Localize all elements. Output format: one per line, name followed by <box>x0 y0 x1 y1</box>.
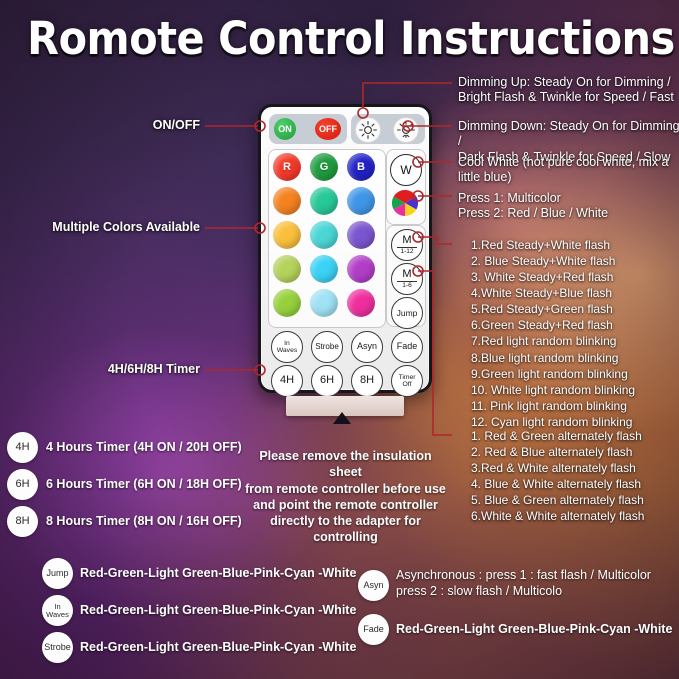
mode-list-item: 5. Blue & Green alternately flash <box>471 492 679 508</box>
effect-legend-text: Red-Green-Light Green-Blue-Pink-Cyan -Wh… <box>80 603 370 619</box>
color-button-7[interactable] <box>273 221 301 249</box>
mode-list-item: 1.Red Steady+White flash <box>471 237 679 253</box>
button-label: In <box>284 340 290 347</box>
effect-button-fade[interactable]: Fade <box>391 331 423 363</box>
effect-chip-jump[interactable]: Jump <box>42 558 73 589</box>
button-label: 4H <box>280 375 294 387</box>
mode-list-item: 6.Green Steady+Red flash <box>471 317 679 333</box>
timer-chip-4h[interactable]: 4H <box>7 432 38 463</box>
mode-button-top-label: M <box>402 269 411 280</box>
note-line: from remote controller before use <box>243 481 448 497</box>
remote-control-body: ON OFF <box>258 104 432 393</box>
power-on-button[interactable]: ON <box>274 118 296 140</box>
callout-dimming-up: Dimming Up: Steady On for Dimming / Brig… <box>458 75 678 106</box>
callout-line: Press 1: Multicolor <box>458 191 676 206</box>
chip-label: 4H <box>15 442 29 453</box>
infographic-root: Romote Control Instructions ON OFF <box>0 0 679 679</box>
power-row: ON OFF <box>269 114 425 144</box>
button-label: Strobe <box>315 343 339 351</box>
timer-button-4h[interactable]: 4H <box>271 365 303 397</box>
callout-cool-white: Cool White (not pure cool white, mix a l… <box>458 155 676 186</box>
effect-legend-line: Red-Green-Light Green-Blue-Pink-Cyan -Wh… <box>396 622 678 638</box>
timer-legend-text: 6 Hours Timer (6H ON / 18H OFF) <box>46 477 256 493</box>
dimming-down-button[interactable] <box>393 117 419 143</box>
effect-legend-text: Red-Green-Light Green-Blue-Pink-Cyan -Wh… <box>396 622 678 638</box>
color-button-6[interactable] <box>347 187 375 215</box>
mode-list-item: 3.Red & White alternately flash <box>471 460 679 476</box>
callout-line: Cool White (not pure cool white, mix a <box>458 155 676 170</box>
button-label: 8H <box>360 375 374 387</box>
effect-legend-line: press 2 : slow flash / Multicolo <box>396 584 678 600</box>
power-off-button[interactable]: OFF <box>315 118 341 140</box>
effect-chip-in-waves[interactable]: InWaves <box>42 595 73 626</box>
effect-button-asyn[interactable]: Asyn <box>351 331 383 363</box>
callout-line: Dimming Up: Steady On for Dimming / <box>458 75 678 90</box>
timer-legend-text: 8 Hours Timer (8H ON / 16H OFF) <box>46 514 256 530</box>
mode-1-12-button[interactable]: M 1-12 <box>391 229 423 261</box>
color-button-11[interactable] <box>310 255 338 283</box>
mode-list-item: 1. Red & Green alternately flash <box>471 428 679 444</box>
effect-legend-text: Asynchronous : press 1 : fast flash / Mu… <box>396 568 678 599</box>
note-line: and point the remote controller <box>243 497 448 513</box>
button-label: Fade <box>397 342 418 351</box>
mode-list-item: 11. Pink light random blinking <box>471 398 679 414</box>
mode-1-6-button[interactable]: M 1-6 <box>391 263 423 295</box>
effect-button-strobe[interactable]: Strobe <box>311 331 343 363</box>
button-label: 6H <box>320 375 334 387</box>
color-button-grid: RGB <box>273 153 379 323</box>
callout-line: Dimming Down: Steady On for Dimming / <box>458 119 679 150</box>
note-line: Please remove the insulation sheet <box>243 448 448 481</box>
button-label: Asyn <box>357 342 377 351</box>
insulation-arrow-icon <box>333 412 351 424</box>
callout-colors-label: Multiple Colors Available <box>40 220 200 235</box>
mode-list-item: 2. Red & Blue alternately flash <box>471 444 679 460</box>
button-label: Timer <box>398 374 415 381</box>
color-button-label: G <box>320 161 329 173</box>
callout-line: Bright Flash & Twinkle for Speed / Fast <box>458 90 678 105</box>
callout-line: Press 2: Red / Blue / White <box>458 206 676 221</box>
callout-line: little blue) <box>458 170 676 185</box>
mode-list-item: 7.Red light random blinking <box>471 333 679 349</box>
effect-legend-text: Red-Green-Light Green-Blue-Pink-Cyan -Wh… <box>80 640 370 656</box>
color-button-10[interactable] <box>273 255 301 283</box>
chip-label: Waves <box>46 611 69 619</box>
effect-legend-line: Asynchronous : press 1 : fast flash / Mu… <box>396 568 678 584</box>
mode-list-item: 4.White Steady+Blue flash <box>471 285 679 301</box>
multicolor-wheel-button[interactable] <box>391 189 419 217</box>
callout-timer-label: 4H/6H/8H Timer <box>60 362 200 377</box>
color-button-8[interactable] <box>310 221 338 249</box>
chip-label: Fade <box>363 625 384 634</box>
mode-list-item: 6.White & White alternately flash <box>471 508 679 524</box>
mode-button-range-label: 1-12 <box>400 249 413 256</box>
color-button-label: R <box>283 161 291 173</box>
effect-chip-fade[interactable]: Fade <box>358 614 389 645</box>
mode-list-item: 8.Blue light random blinking <box>471 350 679 366</box>
chip-label: Strobe <box>44 643 71 652</box>
color-button-5[interactable] <box>310 187 338 215</box>
color-button-r[interactable]: R <box>273 153 301 181</box>
effect-legend-text: Red-Green-Light Green-Blue-Pink-Cyan -Wh… <box>80 566 370 582</box>
insulation-note: Please remove the insulation sheet from … <box>243 448 448 546</box>
color-button-15[interactable] <box>347 289 375 317</box>
chip-label: Asyn <box>363 581 383 590</box>
mode-button-top-label: M <box>402 235 411 246</box>
mode-list-item: 4. Blue & White alternately flash <box>471 476 679 492</box>
timer-chip-8h[interactable]: 8H <box>7 506 38 537</box>
timer-legend-text: 4 Hours Timer (4H ON / 20H OFF) <box>46 440 256 456</box>
mode-button-range-label: 1-6 <box>402 283 411 290</box>
chip-label: 8H <box>15 516 29 527</box>
color-button-4[interactable] <box>273 187 301 215</box>
color-button-g[interactable]: G <box>310 153 338 181</box>
timer-button-timer-off[interactable]: TimerOff <box>391 365 423 397</box>
mode-list-item: 10. White light random blinking <box>471 382 679 398</box>
color-button-9[interactable] <box>347 221 375 249</box>
timer-button-8h[interactable]: 8H <box>351 365 383 397</box>
callout-press-modes: Press 1: Multicolor Press 2: Red / Blue … <box>458 191 676 222</box>
jump-button[interactable]: Jump <box>391 297 423 329</box>
color-button-12[interactable] <box>347 255 375 283</box>
button-label: Off <box>403 381 412 388</box>
effect-button-in-waves[interactable]: InWaves <box>271 331 303 363</box>
color-button-14[interactable] <box>310 289 338 317</box>
color-wheel-icon <box>391 189 419 217</box>
white-button[interactable]: W <box>390 154 422 186</box>
chip-label: Jump <box>46 569 68 578</box>
note-line: directly to the adapter for controlling <box>243 513 448 546</box>
effect-chip-strobe[interactable]: Strobe <box>42 632 73 663</box>
timer-chip-6h[interactable]: 6H <box>7 469 38 500</box>
callout-onoff-label: ON/OFF <box>60 118 200 133</box>
chip-label: 6H <box>15 479 29 490</box>
mode-1-12-list: 1.Red Steady+White flash2. Blue Steady+W… <box>471 237 679 430</box>
mode-list-item: 2. Blue Steady+White flash <box>471 253 679 269</box>
mode-list-item: 3. White Steady+Red flash <box>471 269 679 285</box>
timer-button-6h[interactable]: 6H <box>311 365 343 397</box>
mode-list-item: 9.Green light random blinking <box>471 366 679 382</box>
page-title: Romote Control Instructions <box>27 12 652 65</box>
mode-1-6-list: 1. Red & Green alternately flash2. Red &… <box>471 428 679 524</box>
dimming-up-button[interactable] <box>355 117 381 143</box>
color-button-13[interactable] <box>273 289 301 317</box>
color-button-b[interactable]: B <box>347 153 375 181</box>
mode-list-item: 5.Red Steady+Green flash <box>471 301 679 317</box>
effect-chip-asyn[interactable]: Asyn <box>358 570 389 601</box>
color-button-label: B <box>357 161 365 173</box>
button-label: Waves <box>277 347 298 354</box>
